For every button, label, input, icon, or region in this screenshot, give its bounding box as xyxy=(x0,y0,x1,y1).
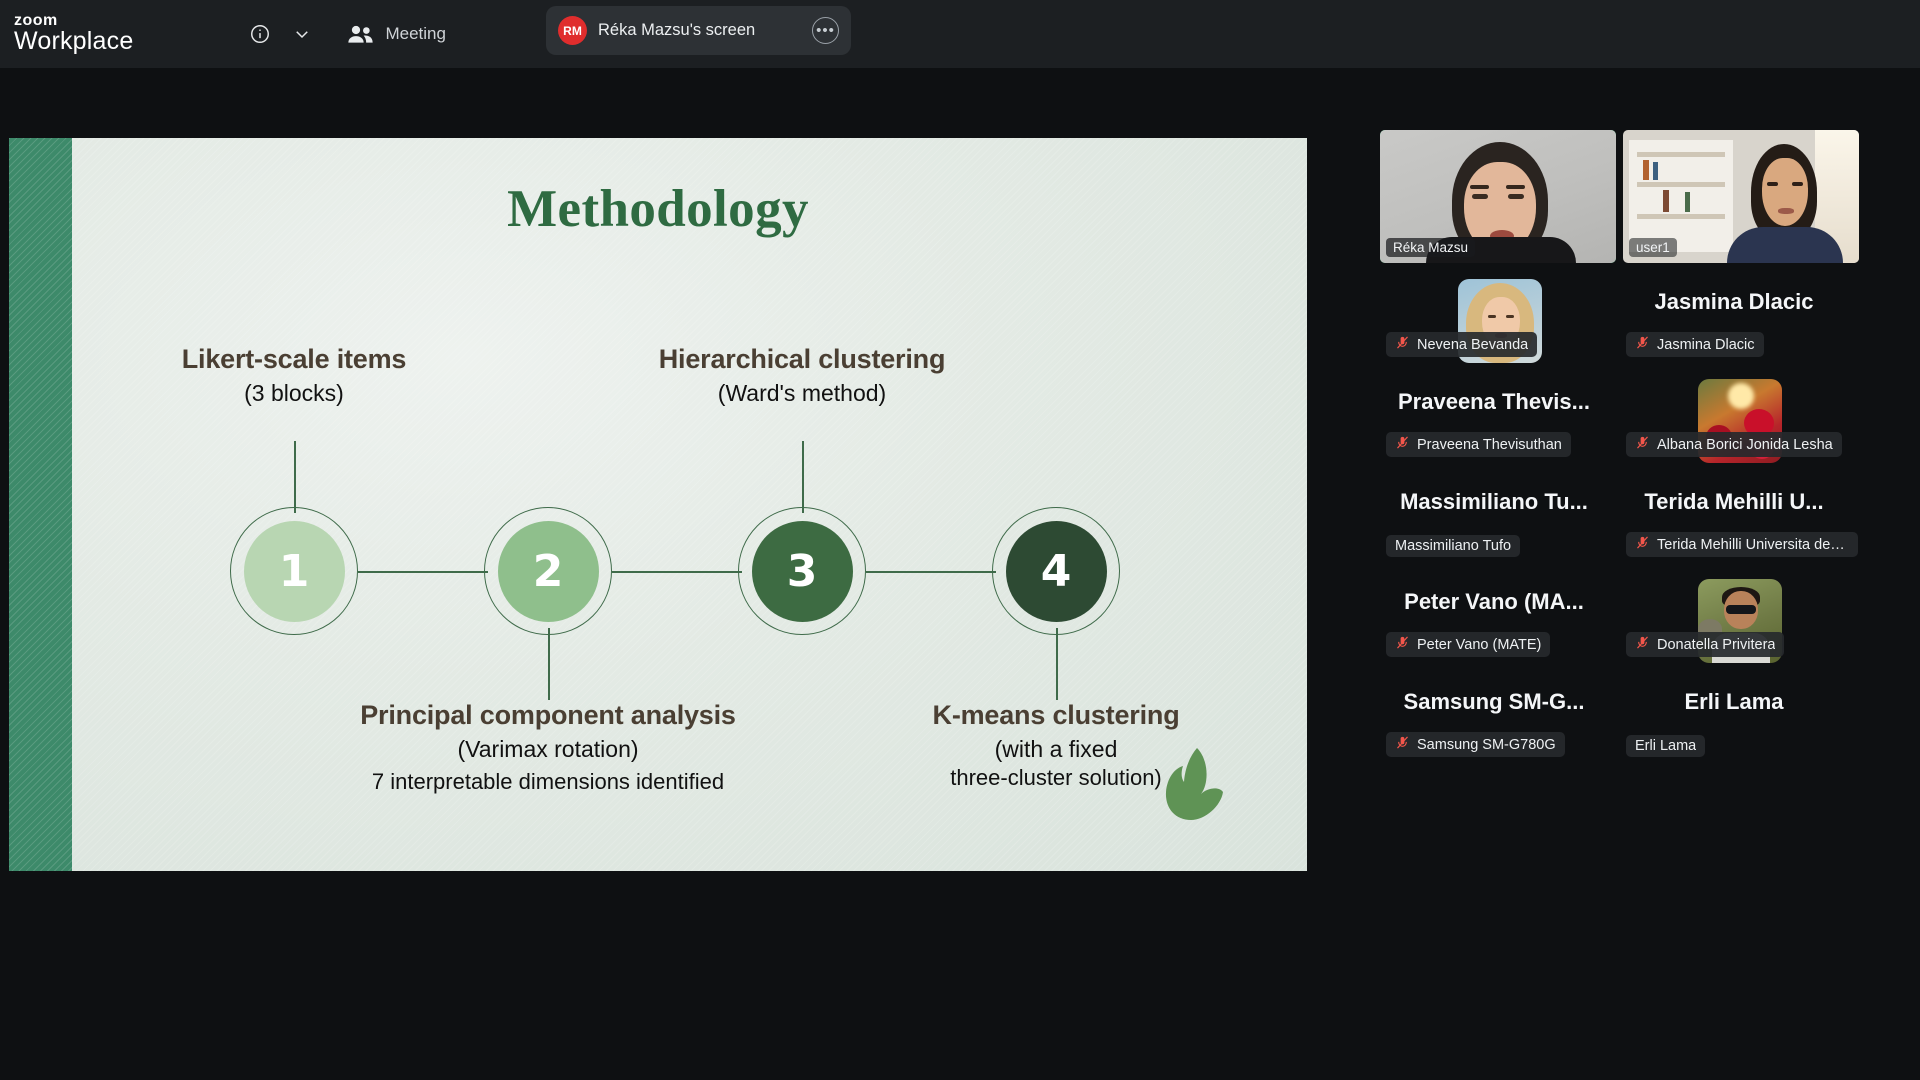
participants-rail: Réka Mazsu user1 xyxy=(1380,130,1860,777)
participant-display-name: Jasmina Dlacic xyxy=(1620,289,1848,315)
video-tile-reka-mazsu[interactable]: Réka Mazsu xyxy=(1380,130,1616,263)
more-options-icon[interactable]: ••• xyxy=(812,17,839,44)
participant-name-tag: Peter Vano (MATE) xyxy=(1386,632,1550,657)
step-1-sub1: (3 blocks) xyxy=(94,380,494,407)
slide-accent-bar xyxy=(9,138,72,871)
video-tiles-row: Réka Mazsu user1 xyxy=(1380,130,1860,263)
step-3-title: Hierarchical clustering xyxy=(562,344,1042,375)
participant-row: Peter Vano (MA... Peter Vano (MATE) Dona xyxy=(1380,577,1860,677)
node-ring xyxy=(484,507,612,635)
participant-terida-mehilli[interactable]: Terida Mehilli U... Terida Mehilli Unive… xyxy=(1620,477,1860,577)
participant-row: Samsung SM-G... Samsung SM-G780G Erli La… xyxy=(1380,677,1860,777)
participant-display-name: Massimiliano Tu... xyxy=(1380,489,1608,515)
timeline-node-2: 2 xyxy=(484,507,612,635)
timeline-node-1: 1 xyxy=(230,507,358,635)
participant-name-tag: Nevena Bevanda xyxy=(1386,332,1537,357)
info-circle-icon[interactable] xyxy=(243,17,277,51)
timeline-node-3: 3 xyxy=(738,507,866,635)
participant-name: Massimiliano Tufo xyxy=(1395,538,1511,554)
step-1-title: Likert-scale items xyxy=(94,344,494,375)
video-tile-name: user1 xyxy=(1629,238,1677,257)
participant-massimiliano-tufo[interactable]: Massimiliano Tu... Massimiliano Tufo xyxy=(1380,477,1620,577)
meeting-label: Meeting xyxy=(385,24,445,44)
video-tile-user1[interactable]: user1 xyxy=(1623,130,1859,263)
microphone-muted-icon xyxy=(1395,335,1410,354)
methodology-timeline: 1 2 3 4 Likert-scale items (3 blocks) Hi… xyxy=(72,138,1307,871)
participant-name-tag: Terida Mehilli Universita deg… xyxy=(1626,532,1858,557)
participant-name: Samsung SM-G780G xyxy=(1417,737,1556,753)
microphone-muted-icon xyxy=(1395,435,1410,454)
connector-3-4 xyxy=(866,571,996,573)
participant-row: Nevena Bevanda Jasmina Dlacic Jasmina Dl… xyxy=(1380,277,1860,377)
participant-name: Praveena Thevisuthan xyxy=(1417,437,1562,453)
step-2-sub2: 7 interpretable dimensions identified xyxy=(258,769,838,795)
zoom-top-bar: zoom Workplace Meeting RM Réka Mazsu's s… xyxy=(0,0,1920,68)
connector-2-3 xyxy=(612,571,742,573)
participant-row: Praveena Thevis... Praveena Thevisuthan xyxy=(1380,377,1860,477)
step-2-sub1: (Varimax rotation) xyxy=(258,736,838,763)
participant-nevena-bevanda[interactable]: Nevena Bevanda xyxy=(1380,277,1620,377)
connector-1-2 xyxy=(358,571,488,573)
step-2-title: Principal component analysis xyxy=(258,700,838,731)
step-3-sub1: (Ward's method) xyxy=(562,380,1042,407)
participant-display-name: Peter Vano (MA... xyxy=(1380,589,1608,615)
participant-name: Jasmina Dlacic xyxy=(1657,337,1755,353)
node-ring xyxy=(992,507,1120,635)
participant-name: Terida Mehilli Universita deg… xyxy=(1657,537,1849,553)
video-tile-name: Réka Mazsu xyxy=(1386,238,1475,257)
step-label-2: Principal component analysis (Varimax ro… xyxy=(258,700,838,795)
share-avatar: RM xyxy=(558,16,587,45)
microphone-muted-icon xyxy=(1635,635,1650,654)
participant-name: Nevena Bevanda xyxy=(1417,337,1528,353)
stem-step-2 xyxy=(548,628,550,700)
shared-screen-slide[interactable]: Methodology 1 2 3 4 Likert-scale i xyxy=(9,138,1307,871)
participant-albana-borici-jonida-lesha[interactable]: Albana Borici Jonida Lesha xyxy=(1620,377,1860,477)
timeline-node-4: 4 xyxy=(992,507,1120,635)
participant-display-name: Samsung SM-G... xyxy=(1380,689,1608,715)
microphone-muted-icon xyxy=(1635,535,1650,554)
participant-name-tag: Donatella Privitera xyxy=(1626,632,1784,657)
participant-name: Erli Lama xyxy=(1635,738,1696,754)
microphone-muted-icon xyxy=(1635,335,1650,354)
participant-display-name: Terida Mehilli U... xyxy=(1620,489,1848,515)
participant-display-name: Erli Lama xyxy=(1620,689,1848,715)
share-title: Réka Mazsu's screen xyxy=(598,21,801,40)
participant-name-tag: Albana Borici Jonida Lesha xyxy=(1626,432,1842,457)
microphone-muted-icon xyxy=(1395,735,1410,754)
participant-samsung-sm-g780g[interactable]: Samsung SM-G... Samsung SM-G780G xyxy=(1380,677,1620,777)
participant-praveena-thevisuthan[interactable]: Praveena Thevis... Praveena Thevisuthan xyxy=(1380,377,1620,477)
microphone-muted-icon xyxy=(1395,635,1410,654)
stem-step-3 xyxy=(802,441,804,513)
participant-name-tag: Erli Lama xyxy=(1626,735,1705,757)
node-ring xyxy=(738,507,866,635)
chevron-down-icon[interactable] xyxy=(285,17,319,51)
step-label-1: Likert-scale items (3 blocks) xyxy=(94,344,494,407)
logo-line-workplace: Workplace xyxy=(14,29,133,55)
participant-name-tag: Praveena Thevisuthan xyxy=(1386,432,1571,457)
participant-jasmina-dlacic[interactable]: Jasmina Dlacic Jasmina Dlacic xyxy=(1620,277,1860,377)
people-icon xyxy=(347,24,374,45)
meeting-tab[interactable]: Meeting xyxy=(347,24,445,45)
step-label-3: Hierarchical clustering (Ward's method) xyxy=(562,344,1042,407)
leaf-decoration-icon xyxy=(1157,744,1229,831)
participant-name: Albana Borici Jonida Lesha xyxy=(1657,437,1833,453)
stem-step-4 xyxy=(1056,628,1058,700)
participant-peter-vano[interactable]: Peter Vano (MA... Peter Vano (MATE) xyxy=(1380,577,1620,677)
screen-share-indicator[interactable]: RM Réka Mazsu's screen ••• xyxy=(546,6,851,55)
participant-name-tag: Samsung SM-G780G xyxy=(1386,732,1565,757)
participant-name-tag: Massimiliano Tufo xyxy=(1386,535,1520,557)
microphone-muted-icon xyxy=(1635,435,1650,454)
participant-display-name: Praveena Thevis... xyxy=(1380,389,1608,415)
participant-donatella-privitera[interactable]: Donatella Privitera xyxy=(1620,577,1860,677)
participant-name-tag: Jasmina Dlacic xyxy=(1626,332,1764,357)
step-4-title: K-means clustering xyxy=(866,700,1246,731)
participant-name: Donatella Privitera xyxy=(1657,637,1775,653)
participant-row: Massimiliano Tu... Massimiliano Tufo Ter… xyxy=(1380,477,1860,577)
node-ring xyxy=(230,507,358,635)
participant-list: Nevena Bevanda Jasmina Dlacic Jasmina Dl… xyxy=(1380,277,1860,777)
stem-step-1 xyxy=(294,441,296,513)
zoom-workplace-logo: zoom Workplace xyxy=(14,13,133,55)
participant-erli-lama[interactable]: Erli Lama Erli Lama xyxy=(1620,677,1860,777)
participant-name: Peter Vano (MATE) xyxy=(1417,637,1541,653)
